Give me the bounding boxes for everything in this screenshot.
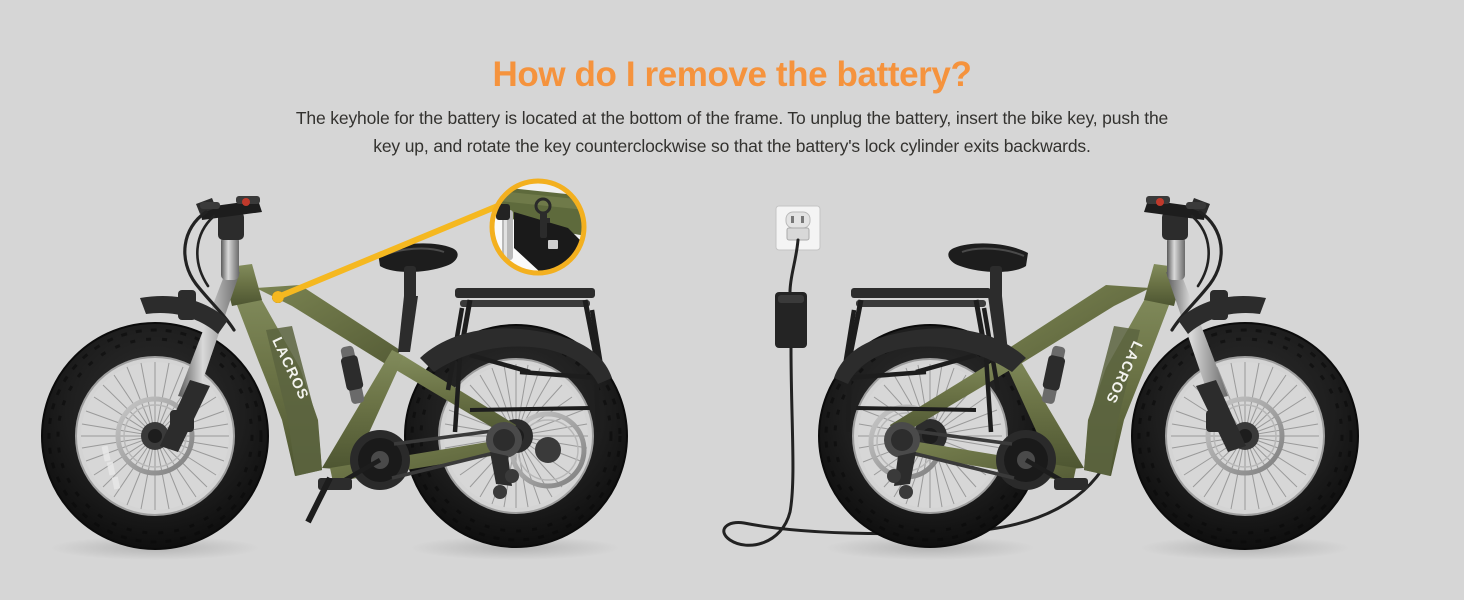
right-brake-lever-right — [1186, 202, 1206, 209]
right-bike-illustration: LACROS — [0, 0, 1464, 600]
right-brake-lever-accent — [1156, 198, 1164, 206]
infographic-page: How do I remove the battery? The keyhole… — [0, 0, 1464, 600]
right-seat-post — [990, 266, 1002, 300]
right-pedal — [1054, 478, 1088, 490]
right-rear-shock-absorber — [1041, 345, 1066, 404]
right-bike-front-wheel — [1132, 323, 1358, 549]
